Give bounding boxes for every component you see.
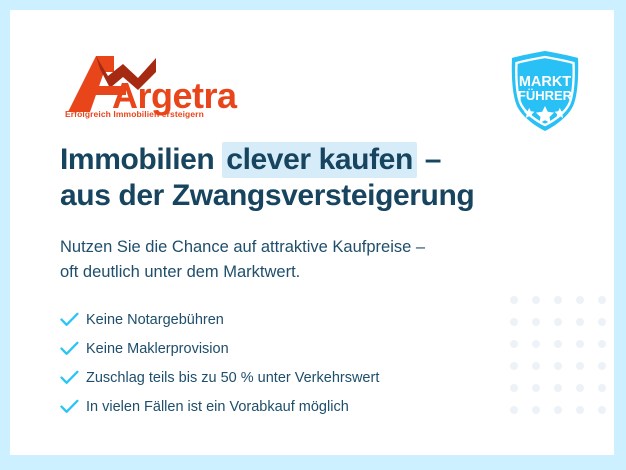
dot [554,384,562,392]
list-item: In vielen Fällen ist ein Vorabkauf mögli… [60,392,379,421]
dot [532,340,540,348]
dot-grid-decoration [510,296,614,436]
dot [532,296,540,304]
headline-post: – [417,143,441,176]
list-item-label: Zuschlag teils bis zu 50 % unter Verkehr… [86,370,379,386]
dot [576,406,584,414]
subheading: Nutzen Sie die Chance auf attraktive Kau… [60,235,425,285]
shield-icon: MARKT FÜHRER [502,48,588,134]
headline-pre: Immobilien [60,143,222,176]
list-item-label: Keine Notargebühren [86,312,224,328]
dot [598,406,606,414]
dot [554,318,562,326]
dot [598,296,606,304]
subheading-line1: Nutzen Sie die Chance auf attraktive Kau… [60,238,425,256]
page-title: Immobilien clever kaufen – aus der Zwang… [60,142,474,214]
dot [554,362,562,370]
dot [554,406,562,414]
headline-line1: Immobilien clever kaufen – [60,142,441,178]
dot [576,384,584,392]
dot [598,362,606,370]
subheading-line2: oft deutlich unter dem Marktwert. [60,263,300,281]
dot [510,340,518,348]
dot [576,340,584,348]
dot [554,296,562,304]
dot [510,362,518,370]
list-item: Keine Notargebühren [60,305,379,334]
list-item: Keine Maklerprovision [60,334,379,363]
check-icon [60,341,86,356]
banner-card: Argetra Erfolgreich Immobilien ersteiger… [10,10,614,455]
dot [532,384,540,392]
dot [510,318,518,326]
dot [532,406,540,414]
logo-tagline: Erfolgreich Immobilien ersteigern [65,109,204,119]
dot [576,362,584,370]
list-item-label: In vielen Fällen ist ein Vorabkauf mögli… [86,399,349,415]
benefit-list: Keine Notargebühren Keine Maklerprovisio… [60,305,379,421]
check-icon [60,312,86,327]
dot [576,296,584,304]
dot [510,384,518,392]
check-icon [60,370,86,385]
check-icon [60,399,86,414]
dot [576,318,584,326]
list-item-label: Keine Maklerprovision [86,341,229,357]
dot [532,362,540,370]
dot [510,296,518,304]
promo-banner: Argetra Erfolgreich Immobilien ersteiger… [0,0,626,470]
dot [554,340,562,348]
badge-line2: FÜHRER [518,88,573,103]
headline-highlight: clever kaufen [222,142,417,178]
market-leader-badge: MARKT FÜHRER [502,48,588,134]
headline-line2: aus der Zwangsversteigerung [60,178,474,214]
dot [598,384,606,392]
list-item: Zuschlag teils bis zu 50 % unter Verkehr… [60,363,379,392]
dot [510,406,518,414]
dot [532,318,540,326]
dot [598,340,606,348]
dot [598,318,606,326]
